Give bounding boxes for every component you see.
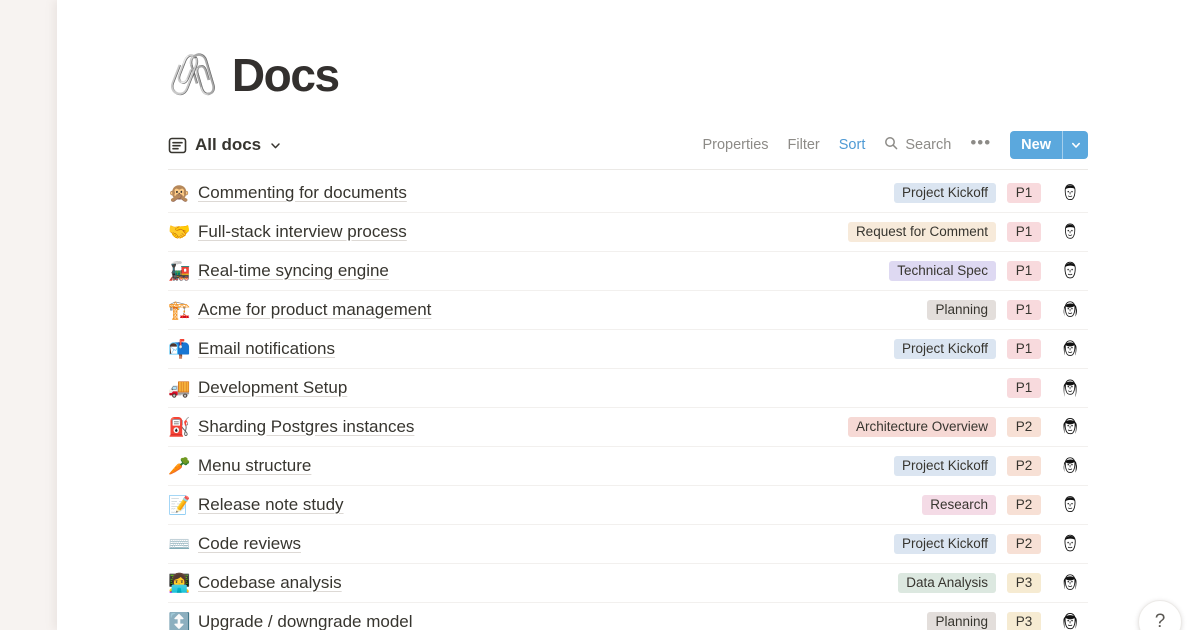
table-row[interactable]: 🙊Commenting for documentsProject Kickoff… — [168, 174, 1088, 213]
doc-title-link[interactable]: Code reviews — [198, 534, 301, 554]
avatar[interactable] — [1052, 609, 1088, 630]
tag-badge[interactable]: Research — [922, 495, 996, 515]
tag-cell: Project Kickoff — [796, 534, 996, 554]
speak-no-evil-monkey-icon: 🙊 — [168, 184, 198, 202]
toolbar-divider — [168, 169, 1088, 170]
doc-title-link[interactable]: Codebase analysis — [198, 573, 342, 593]
doc-title-link[interactable]: Full-stack interview process — [198, 222, 407, 242]
doc-title-link[interactable]: Development Setup — [198, 378, 347, 398]
properties-button[interactable]: Properties — [702, 137, 768, 153]
row-meta: Request for CommentP1 — [796, 219, 1088, 245]
table-row[interactable]: 🚂Real-time syncing engineTechnical SpecP… — [168, 252, 1088, 291]
row-meta: PlanningP3 — [796, 609, 1088, 630]
avatar[interactable] — [1052, 258, 1088, 284]
priority-badge[interactable]: P1 — [1007, 222, 1042, 242]
priority-badge[interactable]: P2 — [1007, 456, 1042, 476]
row-meta: Project KickoffP2 — [796, 531, 1088, 557]
page-content: 🖇️ Docs All docs — [168, 0, 1088, 630]
avatar[interactable] — [1052, 375, 1088, 401]
keyboard-icon: ⌨️ — [168, 535, 198, 553]
avatar[interactable] — [1052, 219, 1088, 245]
priority-badge[interactable]: P2 — [1007, 417, 1042, 437]
help-button[interactable]: ? — [1138, 600, 1182, 630]
priority-cell: P1 — [996, 183, 1052, 203]
list-view-icon — [168, 136, 187, 155]
docs-app: 🖇️ Docs All docs — [0, 0, 1200, 630]
tag-badge[interactable]: Architecture Overview — [848, 417, 996, 437]
tag-badge[interactable]: Project Kickoff — [894, 183, 996, 203]
avatar[interactable] — [1052, 180, 1088, 206]
row-meta: Technical SpecP1 — [796, 258, 1088, 284]
new-button-label: New — [1010, 131, 1062, 159]
tag-cell: Planning — [796, 300, 996, 320]
tag-badge[interactable]: Technical Spec — [889, 261, 996, 281]
doc-title-link[interactable]: Release note study — [198, 495, 344, 515]
page-title: 🖇️ Docs — [168, 44, 1088, 106]
search-icon — [884, 136, 898, 155]
memo-icon: 📝 — [168, 496, 198, 514]
priority-cell: P3 — [996, 612, 1052, 630]
row-meta: Project KickoffP1 — [796, 180, 1088, 206]
doc-title-link[interactable]: Upgrade / downgrade model — [198, 612, 413, 630]
more-options-button[interactable]: ••• — [970, 134, 991, 156]
sort-button[interactable]: Sort — [839, 137, 866, 153]
filter-button[interactable]: Filter — [788, 137, 820, 153]
priority-cell: P1 — [996, 378, 1052, 398]
priority-cell: P1 — [996, 261, 1052, 281]
search-button[interactable]: Search — [884, 136, 951, 155]
table-row[interactable]: 👩‍💻Codebase analysisData AnalysisP3 — [168, 564, 1088, 603]
table-row[interactable]: ↕️Upgrade / downgrade modelPlanningP3 — [168, 603, 1088, 630]
doc-title-link[interactable]: Acme for product management — [198, 300, 431, 320]
priority-badge[interactable]: P1 — [1007, 300, 1042, 320]
locomotive-icon: 🚂 — [168, 262, 198, 280]
priority-badge[interactable]: P3 — [1007, 573, 1042, 593]
tag-badge[interactable]: Planning — [927, 612, 996, 630]
priority-badge[interactable]: P3 — [1007, 612, 1042, 630]
chevron-down-icon — [269, 139, 282, 152]
tag-cell: Data Analysis — [796, 573, 996, 593]
woman-technologist-icon: 👩‍💻 — [168, 574, 198, 592]
priority-badge[interactable]: P1 — [1007, 183, 1042, 203]
doc-title-link[interactable]: Menu structure — [198, 456, 311, 476]
table-row[interactable]: ⌨️Code reviewsProject KickoffP2 — [168, 525, 1088, 564]
tag-cell: Project Kickoff — [796, 339, 996, 359]
doc-title-link[interactable]: Sharding Postgres instances — [198, 417, 414, 437]
priority-cell: P2 — [996, 456, 1052, 476]
table-row[interactable]: 📬Email notificationsProject KickoffP1 — [168, 330, 1088, 369]
docs-list: 🙊Commenting for documentsProject Kickoff… — [168, 174, 1088, 630]
carrot-icon: 🥕 — [168, 457, 198, 475]
table-row[interactable]: 🚚Development SetupP1 — [168, 369, 1088, 408]
search-label: Search — [905, 137, 951, 153]
view-selector-label: All docs — [195, 135, 261, 155]
tag-cell: Project Kickoff — [796, 183, 996, 203]
tag-badge[interactable]: Data Analysis — [898, 573, 996, 593]
main-page: 🖇️ Docs All docs — [57, 0, 1200, 630]
left-rail — [0, 0, 57, 630]
doc-title-link[interactable]: Real-time syncing engine — [198, 261, 389, 281]
table-row[interactable]: ⛽Sharding Postgres instancesArchitecture… — [168, 408, 1088, 447]
priority-badge[interactable]: P2 — [1007, 495, 1042, 515]
priority-cell: P2 — [996, 417, 1052, 437]
avatar[interactable] — [1052, 531, 1088, 557]
new-button[interactable]: New — [1010, 131, 1088, 159]
page-title-text: Docs — [232, 52, 339, 98]
priority-badge[interactable]: P1 — [1007, 378, 1042, 398]
tag-cell: Request for Comment — [796, 222, 996, 242]
tag-cell: Research — [796, 495, 996, 515]
priority-cell: P1 — [996, 300, 1052, 320]
priority-cell: P2 — [996, 495, 1052, 515]
tag-badge[interactable]: Project Kickoff — [894, 534, 996, 554]
tag-cell: Project Kickoff — [796, 456, 996, 476]
tag-badge[interactable]: Project Kickoff — [894, 456, 996, 476]
priority-badge[interactable]: P1 — [1007, 339, 1042, 359]
avatar[interactable] — [1052, 570, 1088, 596]
tag-badge[interactable]: Project Kickoff — [894, 339, 996, 359]
table-row[interactable]: 📝Release note studyResearchP2 — [168, 486, 1088, 525]
building-construction-icon: 🏗️ — [168, 301, 198, 319]
row-meta: Data AnalysisP3 — [796, 570, 1088, 596]
priority-badge[interactable]: P2 — [1007, 534, 1042, 554]
avatar[interactable] — [1052, 336, 1088, 362]
tag-badge[interactable]: Planning — [927, 300, 996, 320]
table-row[interactable]: 🤝Full-stack interview processRequest for… — [168, 213, 1088, 252]
up-down-arrow-icon: ↕️ — [168, 613, 198, 630]
delivery-truck-icon: 🚚 — [168, 379, 198, 397]
doc-title-link[interactable]: Email notifications — [198, 339, 335, 359]
avatar[interactable] — [1052, 414, 1088, 440]
priority-cell: P1 — [996, 339, 1052, 359]
avatar[interactable] — [1052, 453, 1088, 479]
row-meta: Project KickoffP1 — [796, 336, 1088, 362]
tag-cell: Planning — [796, 612, 996, 630]
handshake-icon: 🤝 — [168, 223, 198, 241]
fuel-pump-icon: ⛽ — [168, 418, 198, 436]
paperclip-icon: 🖇️ — [168, 55, 218, 95]
tag-badge[interactable]: Request for Comment — [848, 222, 996, 242]
tag-cell: Architecture Overview — [796, 417, 996, 437]
toolbar: All docs Properties Filter Sort — [168, 128, 1088, 162]
avatar[interactable] — [1052, 492, 1088, 518]
row-meta: Architecture OverviewP2 — [796, 414, 1088, 440]
doc-title-link[interactable]: Commenting for documents — [198, 183, 407, 203]
avatar[interactable] — [1052, 297, 1088, 323]
row-meta: ResearchP2 — [796, 492, 1088, 518]
tag-cell: Technical Spec — [796, 261, 996, 281]
priority-cell: P3 — [996, 573, 1052, 593]
mailbox-icon: 📬 — [168, 340, 198, 358]
row-meta: Project KickoffP2 — [796, 453, 1088, 479]
view-selector[interactable]: All docs — [168, 133, 286, 157]
row-meta: PlanningP1 — [796, 297, 1088, 323]
priority-cell: P1 — [996, 222, 1052, 242]
priority-badge[interactable]: P1 — [1007, 261, 1042, 281]
table-row[interactable]: 🥕Menu structureProject KickoffP2 — [168, 447, 1088, 486]
priority-cell: P2 — [996, 534, 1052, 554]
row-meta: P1 — [796, 375, 1088, 401]
toolbar-actions: Properties Filter Sort Search ••• — [702, 131, 1088, 159]
new-button-chevron-down-icon[interactable] — [1062, 131, 1088, 159]
table-row[interactable]: 🏗️Acme for product managementPlanningP1 — [168, 291, 1088, 330]
